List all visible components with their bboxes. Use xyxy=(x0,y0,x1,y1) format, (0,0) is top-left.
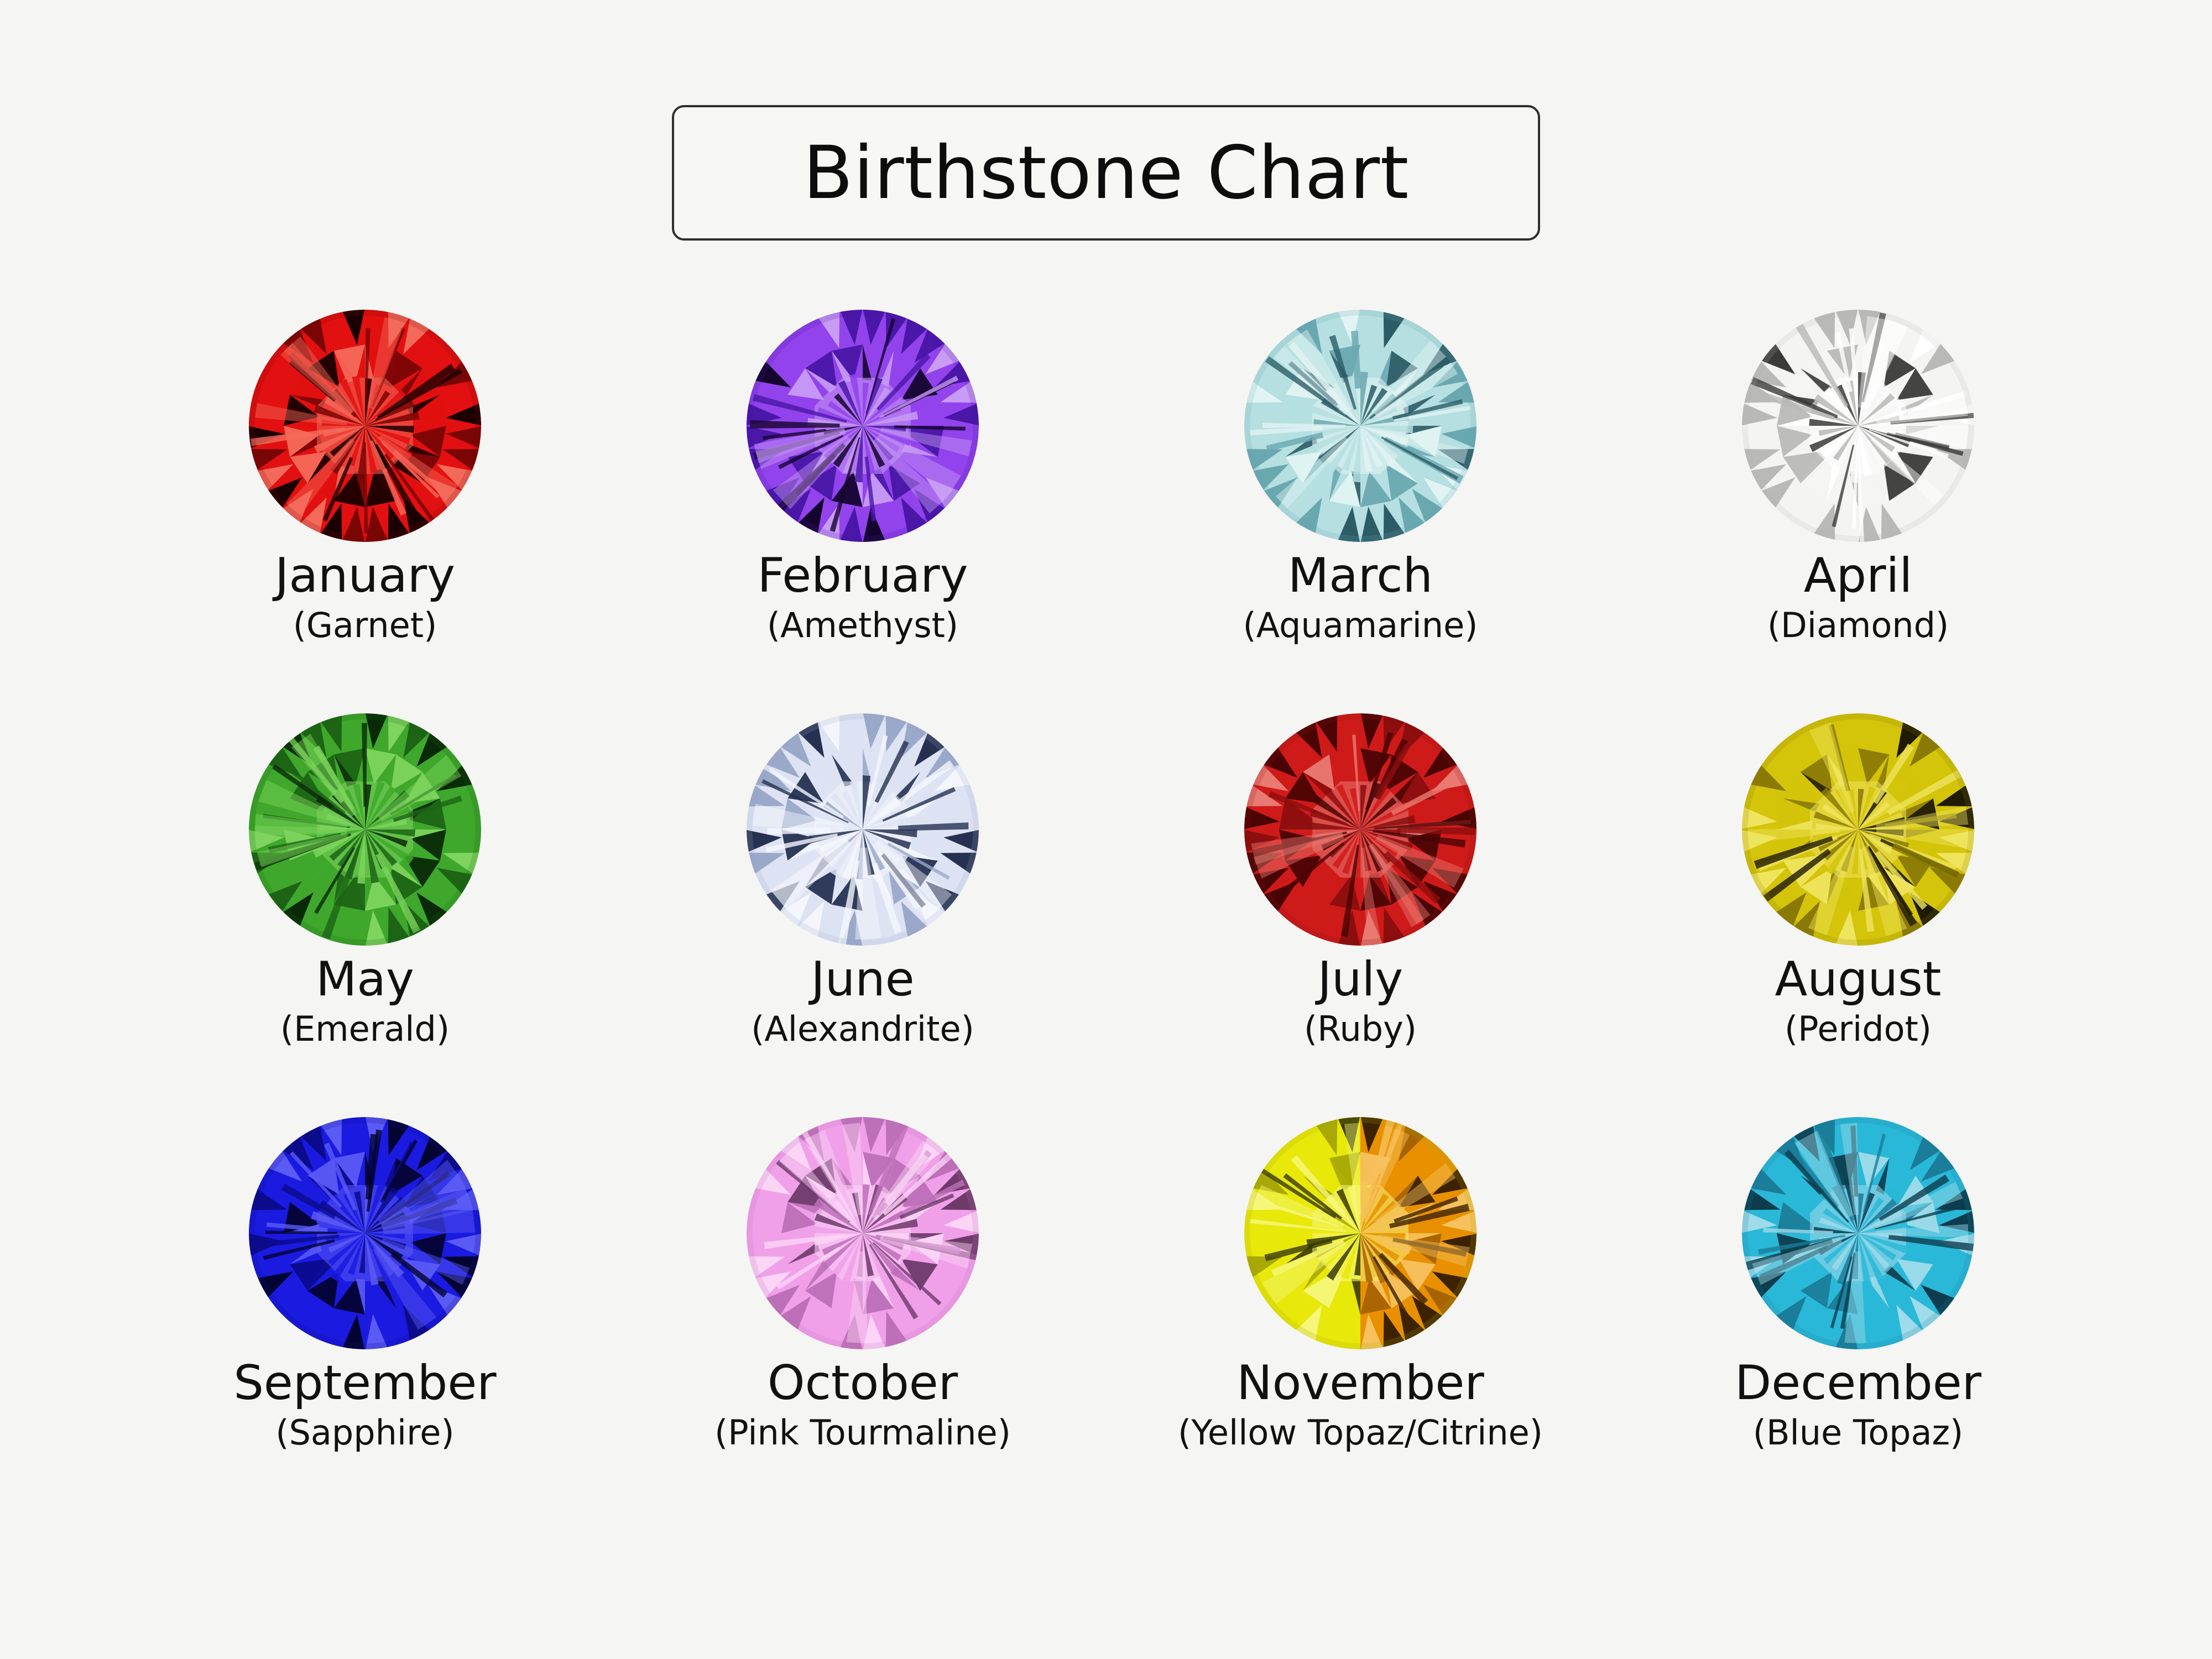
gemstone-icon xyxy=(1244,1117,1477,1349)
month-label: June xyxy=(614,956,1112,1003)
birthstone-cell: November(Yellow Topaz/Citrine) xyxy=(1112,1117,1609,1521)
birthstone-cell: February(Amethyst) xyxy=(614,310,1112,713)
stone-name-label: (Peridot) xyxy=(1609,1012,2107,1046)
birthstone-labels: June(Alexandrite) xyxy=(614,956,1112,1046)
stone-name-label: (Pink Tourmaline) xyxy=(614,1416,1112,1450)
gemstone-icon xyxy=(1244,713,1477,946)
birthstone-labels: April(Diamond) xyxy=(1609,552,2107,643)
stone-name-label: (Emerald) xyxy=(116,1012,614,1046)
month-label: September xyxy=(116,1359,614,1407)
birthstone-labels: January(Garnet) xyxy=(116,552,614,643)
stone-name-label: (Aquamarine) xyxy=(1112,608,1609,643)
stone-name-label: (Blue Topaz) xyxy=(1609,1416,2107,1450)
birthstone-labels: October(Pink Tourmaline) xyxy=(614,1359,1112,1450)
birthstone-labels: December(Blue Topaz) xyxy=(1609,1359,2107,1450)
birthstone-grid: January(Garnet)February(Amethyst)March(A… xyxy=(116,310,2107,1521)
stone-name-label: (Alexandrite) xyxy=(614,1012,1112,1046)
stone-name-label: (Sapphire) xyxy=(116,1416,614,1450)
stone-name-label: (Ruby) xyxy=(1112,1012,1609,1046)
birthstone-labels: February(Amethyst) xyxy=(614,552,1112,643)
birthstone-cell: May(Emerald) xyxy=(116,713,614,1117)
month-label: November xyxy=(1112,1359,1609,1407)
month-label: July xyxy=(1112,956,1609,1003)
title-box: Birthstone Chart xyxy=(672,105,1540,241)
gemstone-icon xyxy=(1742,1117,1974,1349)
birthstone-cell: March(Aquamarine) xyxy=(1112,310,1609,713)
birthstone-cell: January(Garnet) xyxy=(116,310,614,713)
month-label: April xyxy=(1609,552,2107,599)
gemstone-icon xyxy=(1742,310,1974,542)
month-label: January xyxy=(116,552,614,599)
month-label: May xyxy=(116,956,614,1003)
birthstone-cell: December(Blue Topaz) xyxy=(1609,1117,2107,1521)
stone-name-label: (Yellow Topaz/Citrine) xyxy=(1112,1416,1609,1450)
gemstone-icon xyxy=(249,713,481,946)
birthstone-cell: April(Diamond) xyxy=(1609,310,2107,713)
birthstone-labels: May(Emerald) xyxy=(116,956,614,1046)
stone-name-label: (Amethyst) xyxy=(614,608,1112,643)
gemstone-icon xyxy=(1742,713,1974,946)
gemstone-icon xyxy=(249,1117,481,1349)
gemstone-icon xyxy=(747,310,979,542)
birthstone-labels: November(Yellow Topaz/Citrine) xyxy=(1112,1359,1609,1450)
page-title: Birthstone Chart xyxy=(803,131,1409,216)
month-label: March xyxy=(1112,552,1609,599)
birthstone-labels: March(Aquamarine) xyxy=(1112,552,1609,643)
gemstone-icon xyxy=(747,713,979,946)
birthstone-cell: July(Ruby) xyxy=(1112,713,1609,1117)
gemstone-icon xyxy=(249,310,481,542)
month-label: August xyxy=(1609,956,2107,1003)
birthstone-cell: June(Alexandrite) xyxy=(614,713,1112,1117)
month-label: February xyxy=(614,552,1112,599)
gemstone-icon xyxy=(747,1117,979,1349)
month-label: October xyxy=(614,1359,1112,1407)
month-label: December xyxy=(1609,1359,2107,1407)
title-banner: Birthstone Chart xyxy=(0,105,2212,241)
gemstone-icon xyxy=(1244,310,1477,542)
birthstone-cell: August(Peridot) xyxy=(1609,713,2107,1117)
birthstone-cell: October(Pink Tourmaline) xyxy=(614,1117,1112,1521)
birthstone-cell: September(Sapphire) xyxy=(116,1117,614,1521)
stone-name-label: (Garnet) xyxy=(116,608,614,643)
birthstone-labels: July(Ruby) xyxy=(1112,956,1609,1046)
stone-name-label: (Diamond) xyxy=(1609,608,2107,643)
birthstone-labels: September(Sapphire) xyxy=(116,1359,614,1450)
birthstone-labels: August(Peridot) xyxy=(1609,956,2107,1046)
